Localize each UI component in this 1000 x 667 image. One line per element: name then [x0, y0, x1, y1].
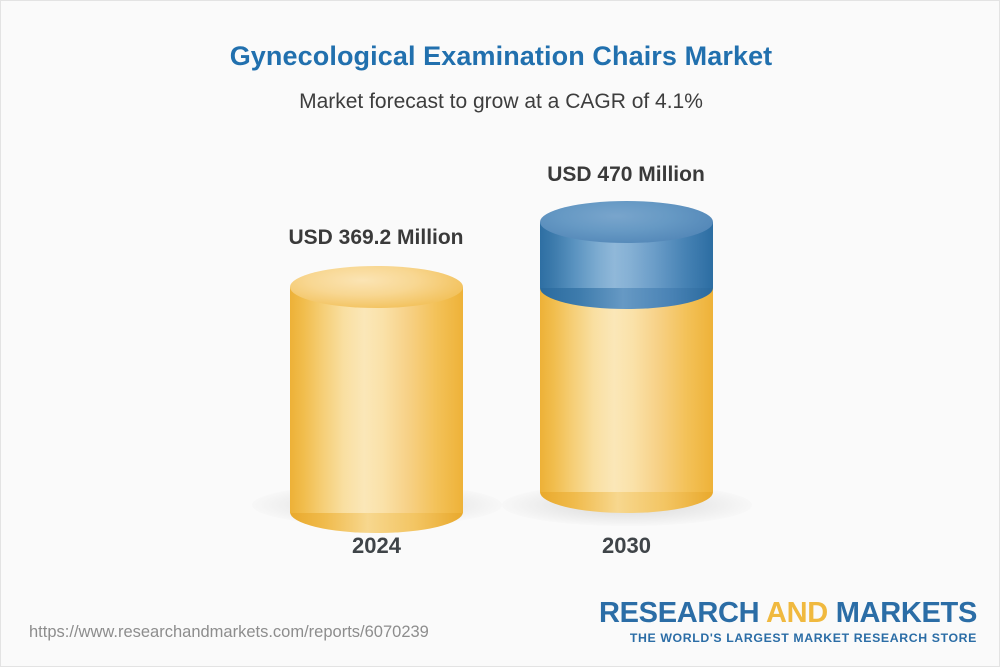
chart-plot-area: USD 369.2 Million 2024 USD 470 Million: [1, 1, 1000, 601]
category-label-2024: 2024: [290, 533, 463, 559]
bar-segment-base-2030: [540, 288, 713, 492]
infographic-canvas: Gynecological Examination Chairs Market …: [0, 0, 1000, 667]
bar-body-base-2030: [540, 288, 713, 492]
brand-logo-and: AND: [759, 597, 835, 629]
data-label-2030: USD 470 Million: [466, 163, 786, 187]
bar-segment-base-2024: [290, 287, 463, 513]
brand-logo-wordmark: RESEARCH AND MARKETS: [599, 598, 977, 628]
report-url[interactable]: https://www.researchandmarkets.com/repor…: [29, 623, 429, 642]
brand-logo[interactable]: RESEARCH AND MARKETS THE WORLD'S LARGEST…: [599, 598, 977, 645]
data-label-2024: USD 369.2 Million: [216, 226, 536, 250]
brand-logo-research: RESEARCH: [599, 597, 759, 629]
category-label-2030: 2030: [540, 533, 713, 559]
bar-top-ellipse-2024: [290, 266, 463, 308]
bar-body-2024: [290, 287, 463, 513]
bar-top-ellipse-2030: [540, 201, 713, 243]
brand-logo-markets: MARKETS: [836, 597, 977, 629]
brand-logo-tagline: THE WORLD'S LARGEST MARKET RESEARCH STOR…: [599, 631, 977, 645]
